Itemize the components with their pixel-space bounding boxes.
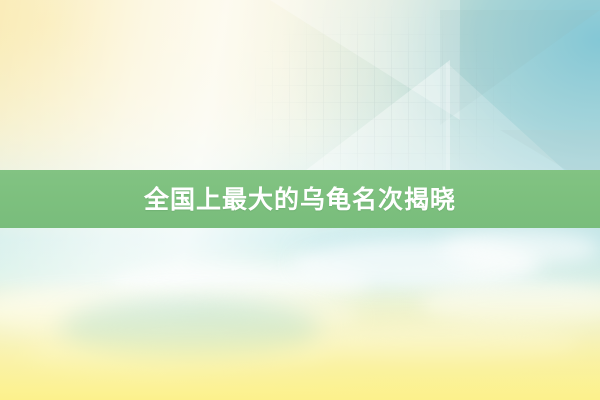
facet-triangle-b [440, 10, 600, 125]
cloud-wisp [110, 264, 370, 304]
cloud-wisp [290, 238, 540, 290]
cloud-wisp [420, 282, 600, 328]
bottom-yellow-wash [0, 280, 600, 400]
cloud-wisp [440, 230, 600, 266]
cloud-decoration [0, 230, 600, 400]
cloud-wisp [30, 334, 330, 374]
cloud-cyan-patch-upper [300, 236, 470, 282]
banner-title: 全国上最大的乌龟名次揭晓 [144, 187, 456, 212]
cloud-wisp [300, 326, 580, 364]
grid-texture-overlay [255, 0, 555, 175]
cloud-cyan-patch-lower [60, 300, 320, 360]
banner-image: 全国上最大的乌龟名次揭晓 [0, 0, 600, 400]
cloud-wisp [180, 302, 360, 332]
facet-triangle-a [270, 0, 460, 120]
geometric-facets-decoration [250, 0, 600, 190]
cloud-wisp [0, 290, 200, 334]
title-banner-band: 全国上最大的乌龟名次揭晓 [0, 170, 600, 228]
